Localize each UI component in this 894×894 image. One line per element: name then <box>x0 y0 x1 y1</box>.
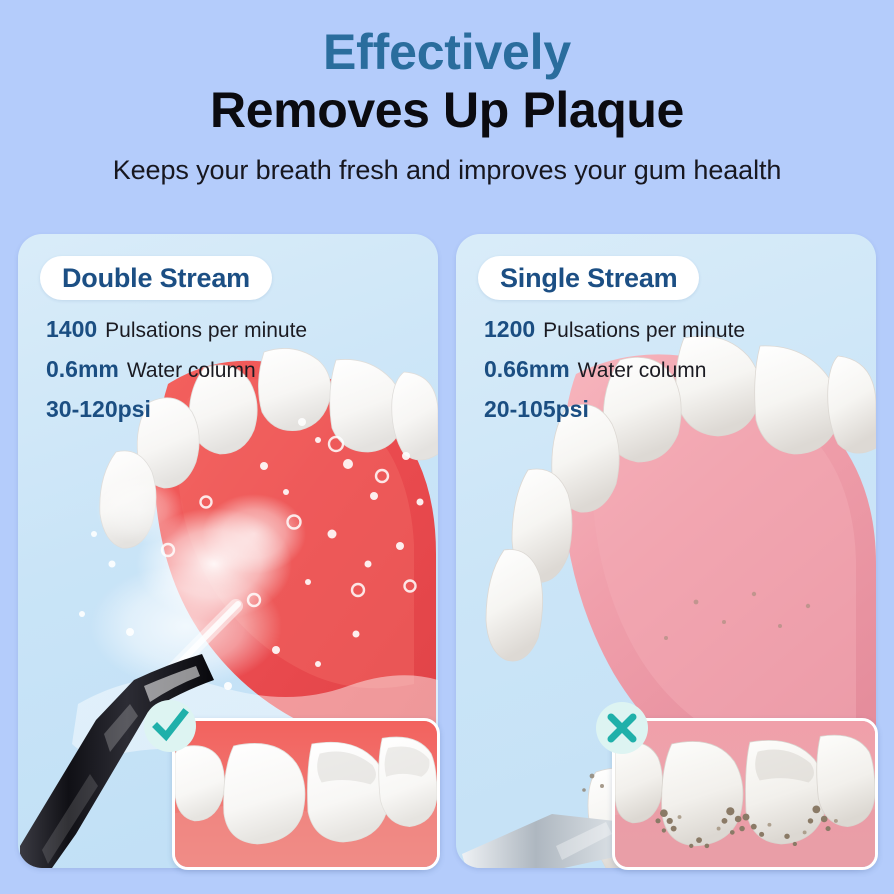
page-title-accent: Effectively <box>0 26 894 79</box>
spec-row: 0.6mm Water column <box>46 356 307 383</box>
cross-badge <box>596 702 648 754</box>
card-title-label: Double Stream <box>62 263 250 294</box>
spec-label: Pulsations per minute <box>105 319 307 343</box>
page-title-main: Removes Up Plaque <box>0 84 894 137</box>
check-badge <box>144 700 196 752</box>
specs-double-stream: 1400 Pulsations per minute 0.6mm Water c… <box>46 316 307 436</box>
infographic-page: Effectively Removes Up Plaque Keeps your… <box>0 0 894 894</box>
spec-value: 1200 <box>484 316 535 343</box>
spec-row: 30-120psi <box>46 396 307 423</box>
spec-row: 20-105psi <box>484 396 745 423</box>
spec-label: Water column <box>578 359 707 383</box>
check-icon <box>148 704 192 748</box>
spec-value: 1400 <box>46 316 97 343</box>
spec-value: 0.6mm <box>46 356 119 383</box>
specs-single-stream: 1200 Pulsations per minute 0.66mm Water … <box>484 316 745 436</box>
spec-value: 20-105psi <box>484 396 589 423</box>
spec-row: 1200 Pulsations per minute <box>484 316 745 343</box>
card-title-single-stream: Single Stream <box>478 256 699 300</box>
spec-value: 30-120psi <box>46 396 151 423</box>
card-title-double-stream: Double Stream <box>40 256 272 300</box>
card-title-label: Single Stream <box>500 263 677 294</box>
spec-label: Pulsations per minute <box>543 319 745 343</box>
spec-row: 0.66mm Water column <box>484 356 745 383</box>
cross-icon <box>600 706 644 750</box>
spec-label: Water column <box>127 359 256 383</box>
inset-clean-teeth <box>172 718 440 870</box>
inset-plaque-teeth <box>612 718 878 870</box>
header: Effectively Removes Up Plaque Keeps your… <box>0 0 894 210</box>
spec-value: 0.66mm <box>484 356 570 383</box>
page-subtitle: Keeps your breath fresh and improves you… <box>0 155 894 186</box>
spec-row: 1400 Pulsations per minute <box>46 316 307 343</box>
